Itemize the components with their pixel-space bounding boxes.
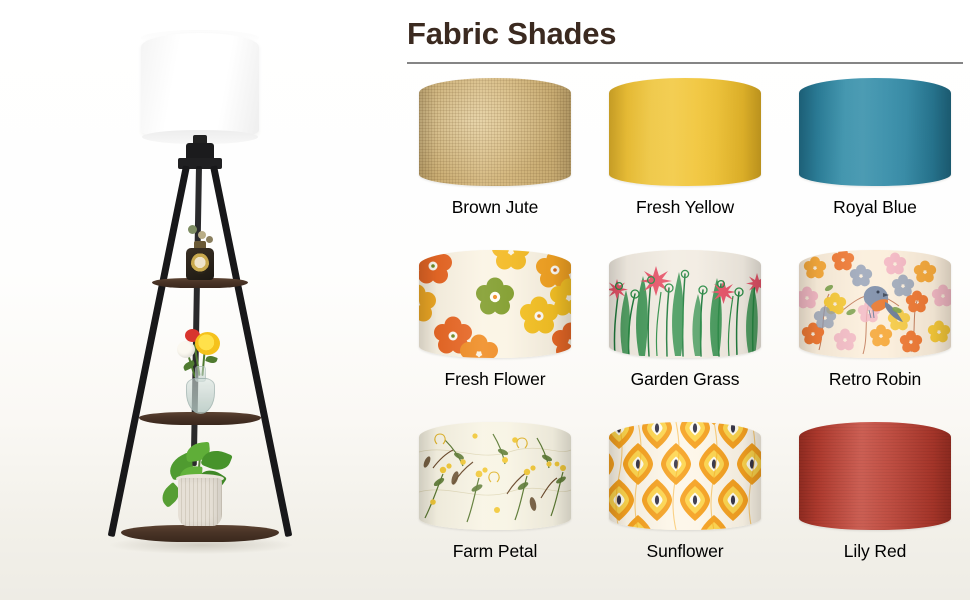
swatch-wrap xyxy=(609,78,761,186)
swatch-wrap xyxy=(419,250,571,358)
fabric-fill-yellow xyxy=(609,78,761,186)
shade-option-retro-robin[interactable]: Retro Robin xyxy=(780,247,970,419)
swatch-royal-blue[interactable] xyxy=(799,78,951,186)
shade-label: Garden Grass xyxy=(631,369,740,390)
shade-label: Farm Petal xyxy=(453,541,538,562)
swatch-retro-robin[interactable] xyxy=(799,250,951,358)
flower-leaf-2 xyxy=(205,354,218,364)
shade-option-brown-jute[interactable]: Brown Jute xyxy=(400,75,590,247)
shade-label: Sunflower xyxy=(647,541,724,562)
fabric-fill-jute xyxy=(419,78,571,186)
fabric-fill-blue xyxy=(799,78,951,186)
fabric-fill-farm-petal xyxy=(419,422,571,530)
fabric-shades-panel: Fabric Shades Brown Jute xyxy=(400,0,970,600)
swatch-farm-petal[interactable] xyxy=(419,422,571,530)
swatch-wrap xyxy=(609,250,761,358)
shade-option-royal-blue[interactable]: Royal Blue xyxy=(780,75,970,247)
swatch-fresh-yellow[interactable] xyxy=(609,78,761,186)
shade-swatch-grid: Brown Jute Fresh Yellow xyxy=(400,75,970,591)
shade-label: Royal Blue xyxy=(833,197,917,218)
page-title: Fabric Shades xyxy=(407,16,616,52)
shade-label: Lily Red xyxy=(844,541,906,562)
swatch-wrap xyxy=(799,250,951,358)
shade-option-garden-grass[interactable]: Garden Grass xyxy=(590,247,780,419)
fresh-flower-pattern xyxy=(419,250,571,358)
shade-label: Brown Jute xyxy=(452,197,539,218)
ornament-bead-a xyxy=(188,225,197,234)
ornament-medallion xyxy=(191,253,209,274)
swatch-garden-grass[interactable] xyxy=(609,250,761,358)
flower-bloom-white xyxy=(177,341,195,358)
retro-robin-pattern xyxy=(799,250,951,358)
fabric-fill-garden-grass xyxy=(609,250,761,358)
ornament-bead-b xyxy=(198,231,206,239)
shade-option-fresh-flower[interactable]: Fresh Flower xyxy=(400,247,590,419)
shade-option-lily-red[interactable]: Lily Red xyxy=(780,419,970,591)
swatch-fresh-flower[interactable] xyxy=(419,250,571,358)
fabric-fill-red xyxy=(799,422,951,530)
floor-lamp-illustration xyxy=(0,0,400,600)
lamp-photo-panel xyxy=(0,0,400,600)
fabric-fill-sunflower xyxy=(609,422,761,530)
shade-label: Fresh Flower xyxy=(445,369,546,390)
swatch-wrap xyxy=(609,422,761,530)
swatch-wrap xyxy=(799,422,951,530)
fabric-fill-retro-robin xyxy=(799,250,951,358)
swatch-sunflower[interactable] xyxy=(609,422,761,530)
sunflower-ikat-pattern xyxy=(609,422,761,530)
shade-label: Retro Robin xyxy=(829,369,921,390)
garden-grass-pattern xyxy=(609,250,761,358)
swatch-wrap xyxy=(799,78,951,186)
shade-label: Fresh Yellow xyxy=(636,197,734,218)
swatch-brown-jute[interactable] xyxy=(419,78,571,186)
shade-option-farm-petal[interactable]: Farm Petal xyxy=(400,419,590,591)
plant-pot xyxy=(178,478,222,526)
title-divider xyxy=(407,62,963,64)
fabric-fill-fresh-flower xyxy=(419,250,571,358)
ornament-bead-c xyxy=(206,236,213,243)
glass-vase xyxy=(186,378,215,414)
swatch-wrap xyxy=(419,78,571,186)
flower-bloom-yellow xyxy=(195,332,220,355)
swatch-lily-red[interactable] xyxy=(799,422,951,530)
shade-option-fresh-yellow[interactable]: Fresh Yellow xyxy=(590,75,780,247)
product-feature-image: Fabric Shades Brown Jute xyxy=(0,0,970,600)
lamp-shade xyxy=(141,33,259,140)
shade-option-sunflower[interactable]: Sunflower xyxy=(590,419,780,591)
shelf-bottom xyxy=(121,525,279,542)
swatch-wrap xyxy=(419,422,571,530)
farm-petal-pattern xyxy=(419,422,571,530)
